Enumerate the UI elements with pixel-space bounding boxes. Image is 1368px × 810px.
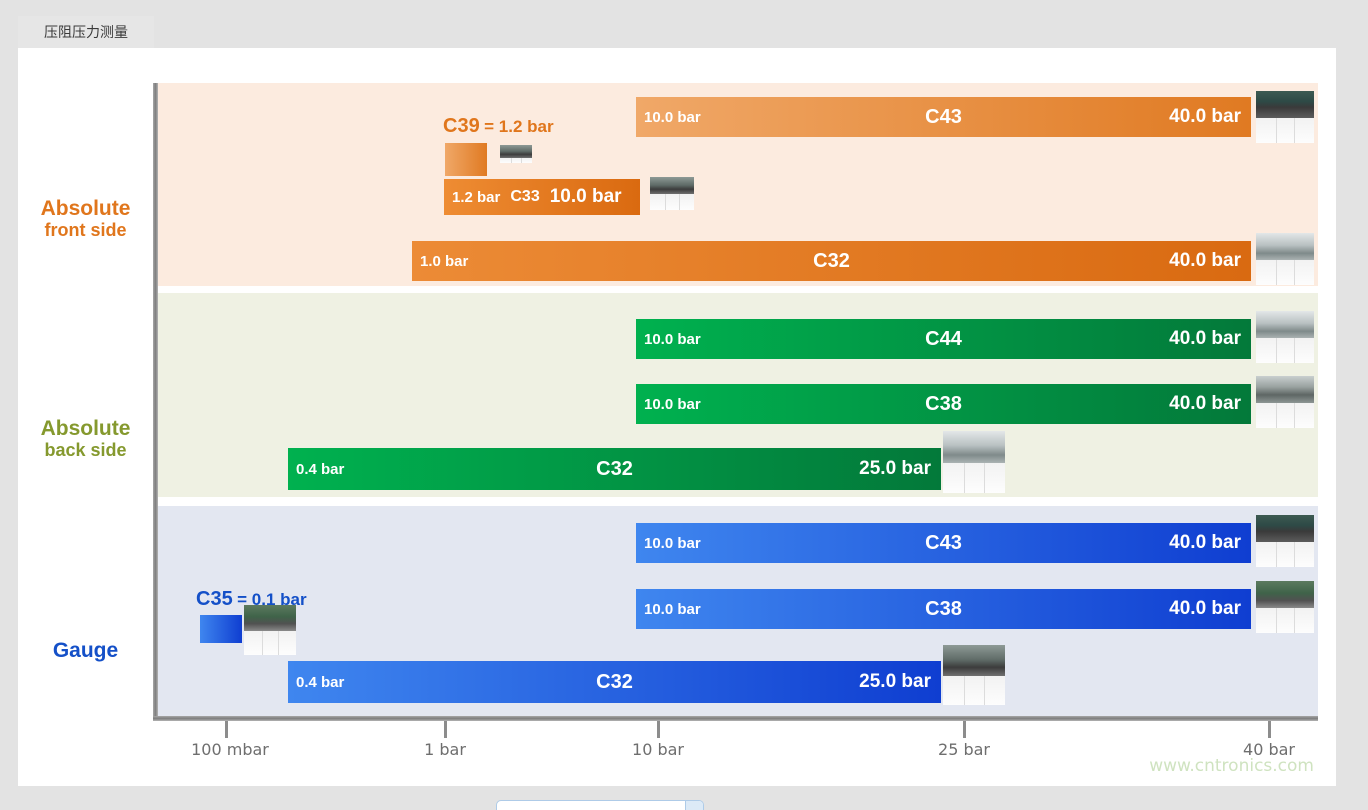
device-base bbox=[244, 631, 296, 655]
row-label-line1: Absolute bbox=[18, 418, 153, 441]
device-body bbox=[1256, 376, 1314, 403]
bar-low-label: 0.4 bar bbox=[296, 674, 344, 691]
device-body bbox=[1256, 311, 1314, 338]
bar-high-label: 40.0 bar bbox=[1169, 532, 1241, 554]
bar-code-label: C32 bbox=[412, 250, 1251, 273]
bar-low-label: 0.4 bar bbox=[296, 461, 344, 478]
bar-absolute-front-c33[interactable]: 1.2 bar C33 10.0 bar bbox=[444, 179, 640, 215]
bottom-input-grip[interactable] bbox=[685, 801, 703, 810]
device-thumbnail-c44 bbox=[1256, 311, 1314, 363]
site-watermark: www.cntronics.com bbox=[1149, 756, 1314, 776]
bottom-search-input[interactable] bbox=[496, 800, 704, 810]
device-body bbox=[943, 645, 1005, 676]
row-label-absolute-front-side: Absolute front side bbox=[18, 198, 153, 240]
callout-c39-swatch[interactable] bbox=[445, 143, 487, 176]
bar-high-label: 25.0 bar bbox=[859, 671, 931, 693]
x-tick-0 bbox=[225, 721, 228, 738]
device-body bbox=[1256, 515, 1314, 542]
device-base bbox=[1256, 338, 1314, 363]
bar-gauge-c43[interactable]: 10.0 bar C43 40.0 bar bbox=[636, 523, 1251, 563]
bar-absolute-front-c32[interactable]: 1.0 bar C32 40.0 bar bbox=[412, 241, 1251, 281]
bar-code-label: C38 bbox=[636, 393, 1251, 416]
bar-low-label: 10.0 bar bbox=[644, 535, 701, 552]
device-thumbnail-c43-gauge bbox=[1256, 515, 1314, 567]
bar-high-label: 25.0 bar bbox=[859, 458, 931, 480]
bar-code-label: C32 bbox=[288, 671, 941, 694]
callout-c35-swatch[interactable] bbox=[200, 615, 242, 643]
bar-low-label: 10.0 bar bbox=[644, 601, 701, 618]
row-label-line1: Absolute bbox=[18, 198, 153, 221]
x-tick-label-3: 25 bar bbox=[938, 740, 990, 759]
row-label-gauge: Gauge bbox=[18, 640, 153, 663]
device-base bbox=[650, 194, 694, 210]
x-tick-1 bbox=[444, 721, 447, 738]
device-thumbnail-c38-gauge bbox=[1256, 581, 1314, 633]
bar-high-label: 40.0 bar bbox=[1169, 393, 1241, 415]
x-tick-label-2: 10 bar bbox=[632, 740, 684, 759]
x-tick-3 bbox=[963, 721, 966, 738]
bar-low-label: 1.2 bar bbox=[452, 189, 500, 206]
row-label-line2: back side bbox=[18, 441, 153, 460]
bar-high-label: 40.0 bar bbox=[1169, 106, 1241, 128]
device-body bbox=[500, 145, 532, 158]
device-thumbnail-c35 bbox=[244, 605, 296, 655]
x-tick-label-0: 100 mbar bbox=[191, 740, 269, 759]
bar-high-label: 10.0 bar bbox=[550, 186, 622, 208]
bar-low-label: 10.0 bar bbox=[644, 331, 701, 348]
device-base bbox=[1256, 608, 1314, 633]
device-thumbnail-c32-gauge bbox=[943, 645, 1005, 705]
chart-plot-area: 10.0 bar C43 40.0 bar C39 = 1.2 bar bbox=[153, 83, 1318, 718]
bar-absolute-back-c38[interactable]: 10.0 bar C38 40.0 bar bbox=[636, 384, 1251, 424]
tab-pressure-measurement[interactable]: 压阻压力测量 bbox=[18, 16, 154, 48]
device-base bbox=[943, 463, 1005, 493]
x-tick-label-1: 1 bar bbox=[424, 740, 466, 759]
bar-high-label: 40.0 bar bbox=[1169, 250, 1241, 272]
bar-absolute-front-c43[interactable]: 10.0 bar C43 40.0 bar bbox=[636, 97, 1251, 137]
callout-c39-caption: C39 = 1.2 bar bbox=[443, 115, 554, 138]
bar-code-label: C43 bbox=[636, 532, 1251, 555]
device-thumbnail-c43-front bbox=[1256, 91, 1314, 143]
bar-high-label: 40.0 bar bbox=[1169, 598, 1241, 620]
bar-code-label: C33 bbox=[510, 188, 539, 206]
bar-code-label: C44 bbox=[636, 328, 1251, 351]
bar-high-label: 40.0 bar bbox=[1169, 328, 1241, 350]
bar-absolute-back-c32[interactable]: 0.4 bar C32 25.0 bar bbox=[288, 448, 941, 490]
row-label-line2: front side bbox=[18, 221, 153, 240]
callout-value: = 1.2 bar bbox=[484, 117, 553, 136]
device-base bbox=[1256, 118, 1314, 143]
bar-code-label: C32 bbox=[288, 458, 941, 481]
bar-code-label: C43 bbox=[636, 106, 1251, 129]
device-base bbox=[1256, 260, 1314, 285]
callout-code: C35 bbox=[196, 588, 233, 610]
device-body bbox=[650, 177, 694, 194]
bar-gauge-c38[interactable]: 10.0 bar C38 40.0 bar bbox=[636, 589, 1251, 629]
device-base bbox=[1256, 403, 1314, 428]
device-thumbnail-c32-back bbox=[943, 431, 1005, 493]
tab-label: 压阻压力测量 bbox=[44, 22, 128, 42]
x-axis-line bbox=[153, 716, 1318, 721]
screenshot-root: 压阻压力测量 Absolute front side Absolute back… bbox=[0, 0, 1368, 810]
device-thumbnail-c39 bbox=[500, 145, 532, 163]
bar-low-label: 1.0 bar bbox=[420, 253, 468, 270]
device-thumbnail-c38-back bbox=[1256, 376, 1314, 428]
device-thumbnail-c32-front bbox=[1256, 233, 1314, 285]
bar-low-label: 10.0 bar bbox=[644, 109, 701, 126]
row-label-line1: Gauge bbox=[18, 640, 153, 663]
callout-code: C39 bbox=[443, 115, 480, 137]
device-thumbnail-c33 bbox=[650, 177, 694, 210]
device-body bbox=[943, 431, 1005, 463]
row-label-absolute-back-side: Absolute back side bbox=[18, 418, 153, 460]
bar-code-label: C38 bbox=[636, 598, 1251, 621]
device-base bbox=[500, 158, 532, 163]
bar-gauge-c32[interactable]: 0.4 bar C32 25.0 bar bbox=[288, 661, 941, 703]
device-body bbox=[1256, 233, 1314, 260]
device-body bbox=[1256, 581, 1314, 608]
bar-absolute-back-c44[interactable]: 10.0 bar C44 40.0 bar bbox=[636, 319, 1251, 359]
x-tick-4 bbox=[1268, 721, 1271, 738]
device-base bbox=[1256, 542, 1314, 567]
bar-low-label: 10.0 bar bbox=[644, 396, 701, 413]
device-body bbox=[1256, 91, 1314, 118]
device-base bbox=[943, 676, 1005, 705]
x-tick-2 bbox=[657, 721, 660, 738]
device-body bbox=[244, 605, 296, 631]
chart-card: Absolute front side Absolute back side G… bbox=[18, 48, 1336, 786]
